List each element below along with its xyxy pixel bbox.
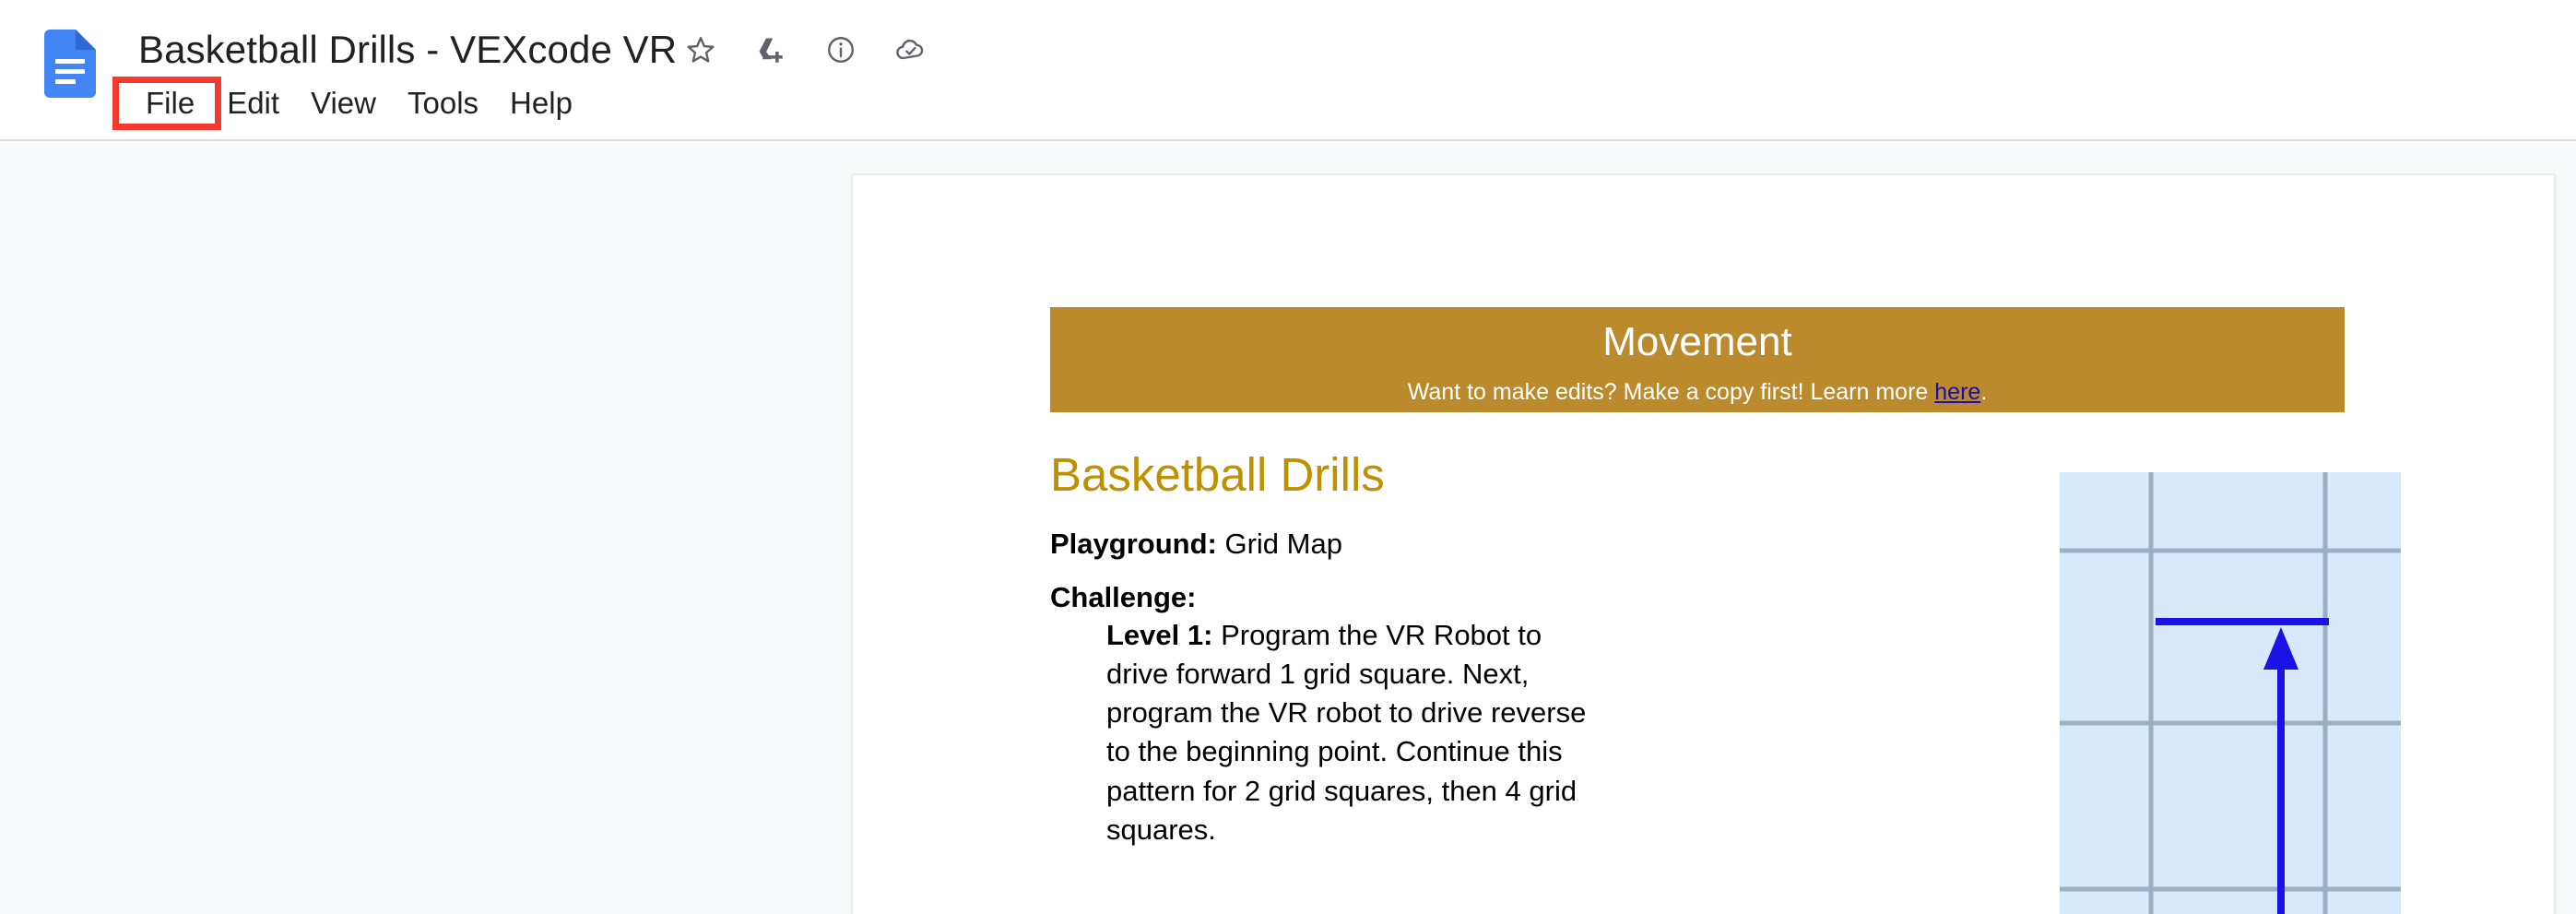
docs-header: Basketball Drills - VEXcode VR [0, 0, 2576, 141]
document-title[interactable]: Basketball Drills - VEXcode VR [138, 26, 677, 74]
playground-line: Playground: Grid Map [1050, 529, 1342, 558]
menu-item-help[interactable]: Help [494, 79, 588, 127]
menu-item-edit[interactable]: Edit [211, 79, 295, 127]
move-to-drive-icon[interactable] [752, 31, 789, 68]
playground-label: Playground: [1050, 528, 1217, 560]
cloud-saved-icon[interactable] [892, 31, 929, 68]
menu-item-file[interactable]: File [129, 79, 211, 127]
banner-subtitle: Want to make edits? Make a copy first! L… [1050, 362, 2345, 404]
banner-subtitle-text: Want to make edits? Make a copy first! L… [1408, 379, 1935, 405]
challenge-heading: Challenge: [1050, 583, 1196, 611]
banner-subtitle-period: . [1980, 379, 1987, 405]
movement-banner: Movement Want to make edits? Make a copy… [1050, 307, 2345, 412]
info-icon[interactable] [822, 31, 859, 68]
banner-title: Movement [1050, 307, 2345, 362]
level-1-paragraph: Level 1: Program the VR Robot to drive f… [1106, 616, 1595, 849]
google-docs-app: Basketball Drills - VEXcode VR [0, 0, 2576, 914]
star-icon[interactable] [682, 31, 719, 68]
title-icon-group [682, 24, 929, 76]
google-docs-icon[interactable] [44, 30, 96, 98]
grid-map-image [2060, 472, 2401, 914]
menu-item-tools[interactable]: Tools [392, 79, 494, 127]
banner-learn-more-link[interactable]: here [1934, 379, 1980, 405]
page-title: Basketball Drills [1050, 449, 1385, 501]
menu-bar: File Edit View Tools Help [129, 79, 588, 127]
menu-item-view[interactable]: View [295, 79, 392, 127]
document-page: Movement Want to make edits? Make a copy… [853, 175, 2554, 914]
playground-value: Grid Map [1217, 528, 1342, 560]
challenge-label: Challenge: [1050, 581, 1196, 613]
level-1-text: Program the VR Robot to drive forward 1 … [1106, 619, 1586, 846]
level-1-label: Level 1: [1106, 619, 1212, 651]
document-title-row[interactable]: Basketball Drills - VEXcode VR [138, 26, 677, 74]
document-canvas: Movement Want to make edits? Make a copy… [0, 143, 2576, 914]
